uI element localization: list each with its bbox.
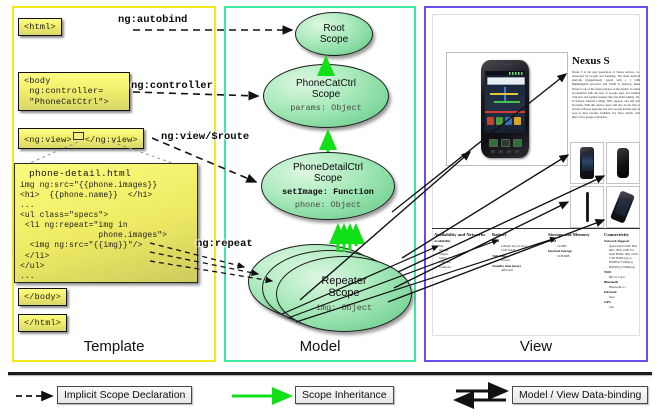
view-phone-title: Nexus S xyxy=(572,55,610,67)
ngview-close-tag: </ng:view> xyxy=(85,135,138,145)
spec-column-storage: Storage and Memory RAM 512MB Internal St… xyxy=(548,232,604,258)
legend-item-implicit-scope-declaration: Implicit Scope Declaration xyxy=(57,386,192,404)
spec-value: 16384MB xyxy=(548,254,604,258)
connector-label-repeat: ng:repeat xyxy=(196,238,253,250)
phone-dock-key xyxy=(501,139,510,147)
phone-hardware-button xyxy=(507,150,511,153)
legend-item-data-binding: Model / View Data-binding xyxy=(512,386,648,404)
phone-device-graphic xyxy=(481,60,529,158)
legend-item-scope-inheritance: Scope Inheritance xyxy=(295,386,394,404)
thumbnail-graphic xyxy=(617,148,629,178)
thumbnail-graphic xyxy=(610,190,635,223)
phone-app-icon xyxy=(496,117,503,125)
phone-wallpaper-yellow xyxy=(490,93,518,95)
view-phone-description: Nexus S is the next generation of Nexus … xyxy=(572,70,640,132)
phone-app-icon xyxy=(487,117,494,125)
code-box-body-close: </body> xyxy=(18,288,67,306)
scope-phonecatctrl: PhoneCatCtrlScope params: Object xyxy=(263,64,389,128)
note-title: phone-detail.html xyxy=(15,164,197,181)
spec-heading: Connectivity xyxy=(604,232,644,238)
phone-wallpaper-red xyxy=(485,111,525,113)
scope-phonecatctrl-title: PhoneCatCtrlScope xyxy=(296,78,356,100)
phone-status-bar xyxy=(485,71,525,75)
scope-phonedetailctrl: PhoneDetailCtrlScope setImage: Function … xyxy=(261,152,395,220)
thumbnail-graphic xyxy=(580,147,594,179)
scope-phonedetailctrl-title: PhoneDetailCtrlScope xyxy=(293,162,363,184)
phone-dock-key xyxy=(513,139,522,147)
angularjs-architecture-diagram: <html> <body ng:controller= "PhoneCatCtr… xyxy=(0,0,660,420)
connector-label-autobind: ng:autobind xyxy=(118,14,187,26)
code-box-html-open: <html> xyxy=(18,18,62,36)
spec-heading: Availability and Networks xyxy=(434,232,490,238)
phone-hardware-buttons xyxy=(487,149,523,154)
scope-repeater-prop-img: img: Object xyxy=(316,303,372,313)
spec-value: false xyxy=(604,295,644,299)
scope-repeater-title: RepeaterScope xyxy=(321,275,366,299)
thumbnail-phone-edge[interactable] xyxy=(570,186,604,228)
spec-heading: Storage and Memory xyxy=(548,232,604,238)
spec-column-availability: Availability and Networks Availability M… xyxy=(434,232,490,269)
connector-label-route: ng:view/$route xyxy=(161,131,249,143)
spec-value: 6 hours xyxy=(492,258,546,262)
ngview-placeholder-icon xyxy=(73,132,84,140)
spec-value: 428 hours xyxy=(492,268,546,272)
spec-value: 512MB xyxy=(548,244,604,248)
spec-value: HSUPA (5.76Mbps)) xyxy=(604,265,644,269)
spec-heading: Battery xyxy=(492,232,546,238)
scope-repeater: RepeaterScope img: Object xyxy=(276,256,412,332)
spec-value: 1500 mAH xyxy=(492,248,546,252)
phone-speaker xyxy=(497,64,513,66)
phone-hardware-button xyxy=(499,150,503,153)
connector-label-controller: ng:controller xyxy=(131,80,213,92)
ngview-open-tag: <ng:view> xyxy=(24,135,72,145)
scope-phonedetailctrl-prop-setimage: setImage: Function xyxy=(282,187,374,197)
code-box-body-open: <body ng:controller= "PhoneCatCtrl"> xyxy=(18,72,130,111)
phone-dock-key xyxy=(489,139,498,147)
spec-column-battery: Battery Type Lithium Ion (Li-Ion) 1500 m… xyxy=(492,232,546,272)
scope-phonedetailctrl-prop-phone: phone: Object xyxy=(295,200,361,210)
scope-phonecatctrl-prop-params: params: Object xyxy=(290,103,361,113)
thumbnail-screen xyxy=(582,153,593,171)
phone-search-widget xyxy=(487,77,525,85)
column-label-template: Template xyxy=(12,338,216,355)
legend-divider xyxy=(8,372,652,375)
spec-value: Vodafone xyxy=(434,265,490,269)
column-label-model: Model xyxy=(224,338,416,355)
note-code: img ng:src="{{phone.images}} <h1> {{phon… xyxy=(15,181,197,282)
code-box-html-close: </html> xyxy=(18,314,67,332)
thumbnail-phone-front[interactable] xyxy=(570,142,604,184)
phone-wallpaper-green xyxy=(494,101,520,103)
spec-value: Bluetooth 2.1 xyxy=(604,285,644,289)
scope-root: RootScope xyxy=(295,12,373,56)
column-label-view: View xyxy=(424,338,648,355)
spec-table-divider xyxy=(432,228,640,229)
note-phone-detail-html: phone-detail.html img ng:src="{{phone.im… xyxy=(14,163,198,283)
phone-app-icons xyxy=(487,117,523,129)
thumbnail-phone-back[interactable] xyxy=(606,142,640,184)
phone-app-icon xyxy=(514,117,521,125)
spec-column-connectivity: Connectivity Network Support Quad-band G… xyxy=(604,232,644,309)
phone-app-icon xyxy=(505,117,512,125)
thumbnail-phone-angle[interactable] xyxy=(606,186,640,228)
thumbnail-graphic xyxy=(586,192,589,222)
phone-hardware-button xyxy=(515,150,519,153)
scope-root-title: RootScope xyxy=(320,23,348,45)
phone-screen xyxy=(485,71,525,133)
spec-value: 802.11 b/g/n xyxy=(604,275,644,279)
phone-hardware-button xyxy=(491,150,495,153)
code-box-ngview: <ng:view></ng:view> xyxy=(18,128,144,149)
phone-hero-image xyxy=(446,52,568,166)
phone-dock-keys xyxy=(486,138,524,147)
spec-value: true xyxy=(604,305,644,309)
phone-status-icons xyxy=(509,72,523,75)
thumbnail-screen xyxy=(614,198,630,216)
